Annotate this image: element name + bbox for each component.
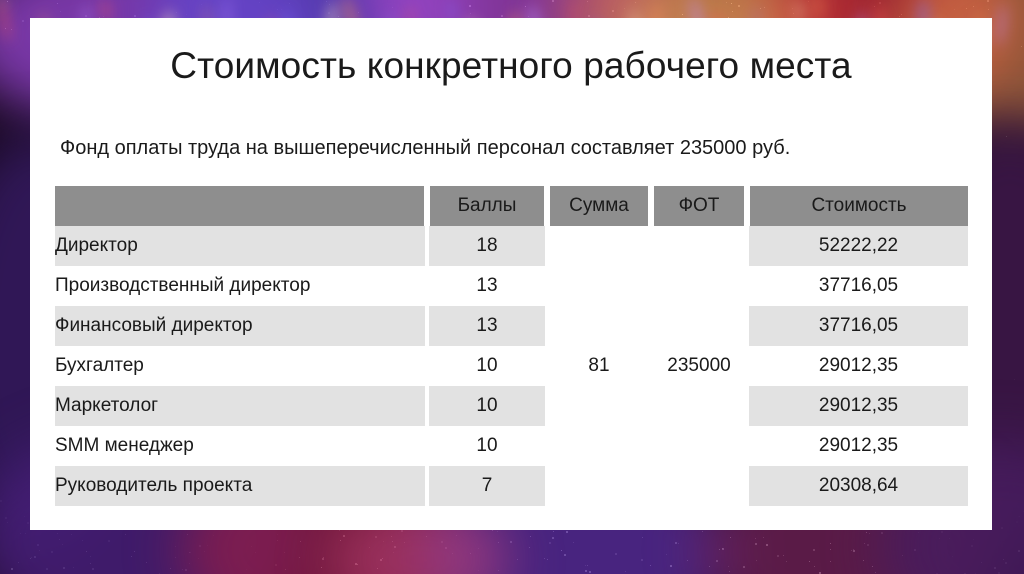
slide-card: Стоимость конкретного рабочего места Фон…	[30, 18, 992, 530]
cell-score: 10	[429, 346, 545, 386]
cell-cost: 29012,35	[749, 346, 968, 386]
cell-score: 13	[429, 266, 545, 306]
cell-role: Директор	[55, 226, 425, 266]
cell-role: Бухгалтер	[55, 346, 425, 386]
slide-subtitle: Фонд оплаты труда на вышеперечисленный п…	[60, 137, 965, 160]
cell-cost: 52222,22	[749, 226, 968, 266]
column-header-sum: Сумма	[549, 186, 649, 226]
table-row: Руководитель проекта720308,64	[55, 466, 968, 506]
cell-cost: 37716,05	[749, 306, 968, 346]
cell-role: Производственный директор	[55, 266, 425, 306]
table-row: Бухгалтер1029012,35	[55, 346, 968, 386]
column-header-score: Баллы	[429, 186, 545, 226]
column-header-fot: ФОТ	[653, 186, 745, 226]
page-title: Стоимость конкретного рабочего места	[30, 45, 992, 87]
cell-gap	[545, 266, 549, 306]
cell-cost: 29012,35	[749, 426, 968, 466]
cell-score: 18	[429, 226, 545, 266]
cell-gap	[545, 426, 549, 466]
cell-role: SMM менеджер	[55, 426, 425, 466]
cell-gap	[545, 466, 549, 506]
cell-role: Маркетолог	[55, 386, 425, 426]
table-row: Маркетолог1029012,35	[55, 386, 968, 426]
table-body: Директор188123500052222,22Производственн…	[55, 226, 968, 506]
cell-score: 7	[429, 466, 545, 506]
cell-cost: 20308,64	[749, 466, 968, 506]
cell-cost: 37716,05	[749, 266, 968, 306]
cell-score: 10	[429, 386, 545, 426]
cell-gap	[545, 386, 549, 426]
cell-cost: 29012,35	[749, 386, 968, 426]
table-row: Директор188123500052222,22	[55, 226, 968, 266]
table-row: SMM менеджер1029012,35	[55, 426, 968, 466]
table-row: Производственный директор1337716,05	[55, 266, 968, 306]
column-header-role	[55, 186, 425, 226]
cell-gap	[545, 346, 549, 386]
cost-table: Баллы Сумма ФОТ Стоимость Директор188123…	[55, 186, 968, 506]
table-row: Финансовый директор1337716,05	[55, 306, 968, 346]
column-header-cost: Стоимость	[749, 186, 968, 226]
cell-role: Финансовый директор	[55, 306, 425, 346]
cell-role: Руководитель проекта	[55, 466, 425, 506]
cell-gap	[545, 306, 549, 346]
table-header-row: Баллы Сумма ФОТ Стоимость	[55, 186, 968, 226]
cell-score: 13	[429, 306, 545, 346]
cell-fot-merged: 235000	[653, 226, 745, 506]
cell-score: 10	[429, 426, 545, 466]
cell-sum-merged: 81	[549, 226, 649, 506]
